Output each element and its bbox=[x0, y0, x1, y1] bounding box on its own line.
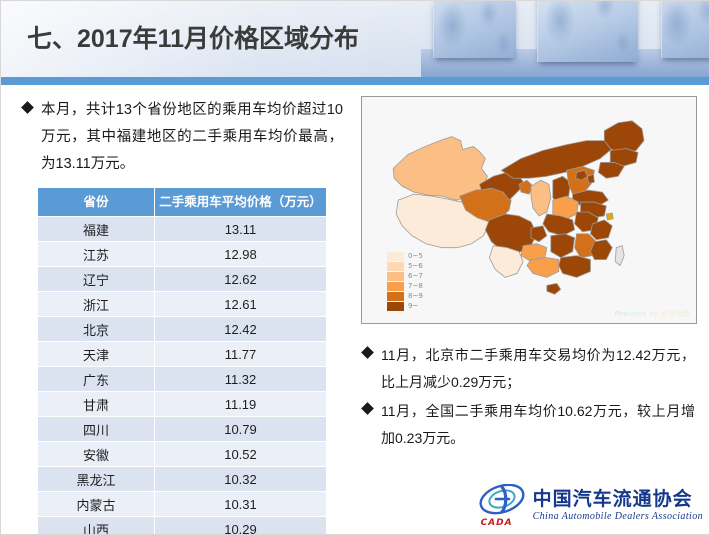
cell-price: 10.52 bbox=[155, 442, 327, 467]
decorative-cube-icon bbox=[661, 1, 710, 58]
cell-price: 12.62 bbox=[155, 267, 327, 292]
cell-price: 10.32 bbox=[155, 467, 327, 492]
cell-province: 广东 bbox=[38, 367, 155, 392]
legend-item: 7~8 bbox=[387, 281, 423, 291]
diamond-bullet-icon bbox=[21, 101, 34, 114]
cell-price: 10.79 bbox=[155, 417, 327, 442]
cell-province: 山西 bbox=[38, 517, 155, 535]
legend-label: 5~6 bbox=[408, 262, 423, 271]
cell-province: 浙江 bbox=[38, 292, 155, 317]
header-decoration-cubes bbox=[421, 1, 710, 77]
legend-swatch bbox=[387, 272, 404, 281]
table-row: 广东11.32 bbox=[38, 367, 327, 392]
legend-label: 9~ bbox=[408, 302, 418, 311]
cell-price: 12.42 bbox=[155, 317, 327, 342]
legend-label: 0~5 bbox=[408, 252, 423, 261]
table-row: 天津11.77 bbox=[38, 342, 327, 367]
cell-province: 北京 bbox=[38, 317, 155, 342]
column-header-province: 省份 bbox=[38, 188, 155, 217]
table-row: 福建13.11 bbox=[38, 217, 327, 242]
diamond-bullet-icon bbox=[361, 402, 374, 415]
legend-swatch bbox=[387, 262, 404, 271]
table-row: 江苏12.98 bbox=[38, 242, 327, 267]
table-row: 黑龙江10.32 bbox=[38, 467, 327, 492]
legend-item: 0~5 bbox=[387, 251, 423, 261]
cell-price: 10.31 bbox=[155, 492, 327, 517]
slide: 七、2017年11月价格区域分布 本月，共计13个省份地区的乘用车均价超过10万… bbox=[0, 0, 710, 535]
cell-province: 黑龙江 bbox=[38, 467, 155, 492]
cell-province: 安徽 bbox=[38, 442, 155, 467]
slide-header: 七、2017年11月价格区域分布 bbox=[1, 1, 710, 77]
cell-price: 12.98 bbox=[155, 242, 327, 267]
diamond-bullet-icon bbox=[361, 346, 374, 359]
table-row: 北京12.42 bbox=[38, 317, 327, 342]
table-header-row: 省份 二手乘用车平均价格（万元） bbox=[38, 188, 327, 217]
table-row: 甘肃11.19 bbox=[38, 392, 327, 417]
decorative-cube-icon bbox=[433, 1, 516, 58]
cada-logo-text: 中国汽车流通协会 China Automobile Dealers Associ… bbox=[533, 489, 703, 523]
decorative-cube-icon bbox=[537, 1, 638, 62]
page-title: 七、2017年11月价格区域分布 bbox=[27, 19, 359, 55]
note-bullet-text: 11月，全国二手乘用车均价10.62万元，较上月增加0.23万元。 bbox=[381, 398, 695, 452]
legend-label: 7~8 bbox=[408, 282, 423, 291]
cada-name-en: China Automobile Dealers Association bbox=[533, 511, 703, 523]
cell-price: 12.61 bbox=[155, 292, 327, 317]
left-summary-block: 本月，共计13个省份地区的乘用车均价超过10万元，其中福建地区的二手乘用车均价最… bbox=[23, 97, 343, 178]
cell-province: 福建 bbox=[38, 217, 155, 242]
table-row: 内蒙古10.31 bbox=[38, 492, 327, 517]
cell-price: 10.29 bbox=[155, 517, 327, 535]
cada-name-cn: 中国汽车流通协会 bbox=[533, 489, 703, 510]
column-header-price: 二手乘用车平均价格（万元） bbox=[155, 188, 327, 217]
table-body: 福建13.11江苏12.98辽宁12.62浙江12.61北京12.42天津11.… bbox=[38, 217, 327, 535]
legend-item: 6~7 bbox=[387, 271, 423, 281]
note-bullet: 11月，全国二手乘用车均价10.62万元，较上月增加0.23万元。 bbox=[363, 398, 695, 452]
cell-price: 13.11 bbox=[155, 217, 327, 242]
province-tianjin bbox=[587, 174, 594, 183]
cell-price: 11.19 bbox=[155, 392, 327, 417]
note-bullet: 11月，北京市二手乘用车交易均价为12.42万元，比上月减少0.29万元； bbox=[363, 342, 695, 396]
legend-swatch bbox=[387, 252, 404, 261]
summary-bullet: 本月，共计13个省份地区的乘用车均价超过10万元，其中福建地区的二手乘用车均价最… bbox=[23, 97, 343, 178]
cada-wordmark: CADA bbox=[481, 518, 513, 528]
cell-province: 甘肃 bbox=[38, 392, 155, 417]
table-row: 四川10.79 bbox=[38, 417, 327, 442]
province-price-table: 省份 二手乘用车平均价格（万元） 福建13.11江苏12.98辽宁12.62浙江… bbox=[37, 187, 327, 535]
cell-province: 江苏 bbox=[38, 242, 155, 267]
cell-province: 四川 bbox=[38, 417, 155, 442]
table-row: 山西10.29 bbox=[38, 517, 327, 535]
map-watermark: Powered by 百度地图 bbox=[615, 309, 690, 319]
note-bullet-text: 11月，北京市二手乘用车交易均价为12.42万元，比上月减少0.29万元； bbox=[381, 342, 695, 396]
legend-label: 8~9 bbox=[408, 292, 423, 301]
province-shanghai bbox=[606, 213, 613, 220]
table-row: 辽宁12.62 bbox=[38, 267, 327, 292]
header-accent-bar bbox=[1, 77, 710, 85]
cell-price: 11.32 bbox=[155, 367, 327, 392]
cada-swirl-icon bbox=[478, 484, 526, 518]
cada-logo-mark-icon: CADA bbox=[478, 484, 526, 528]
map-legend: 0~55~66~77~88~99~ bbox=[387, 251, 423, 311]
cada-logo: CADA 中国汽车流通协会 China Automobile Dealers A… bbox=[478, 484, 703, 528]
right-notes-block: 11月，北京市二手乘用车交易均价为12.42万元，比上月减少0.29万元；11月… bbox=[363, 342, 695, 454]
china-price-choropleth-map: 0~55~66~77~88~99~ Powered by 百度地图 bbox=[361, 96, 697, 324]
legend-item: 5~6 bbox=[387, 261, 423, 271]
legend-swatch bbox=[387, 282, 404, 291]
legend-swatch bbox=[387, 292, 404, 301]
summary-bullet-text: 本月，共计13个省份地区的乘用车均价超过10万元，其中福建地区的二手乘用车均价最… bbox=[41, 97, 343, 178]
cell-price: 11.77 bbox=[155, 342, 327, 367]
cell-province: 内蒙古 bbox=[38, 492, 155, 517]
legend-swatch bbox=[387, 302, 404, 311]
legend-item: 9~ bbox=[387, 301, 423, 311]
legend-label: 6~7 bbox=[408, 272, 423, 281]
cell-province: 辽宁 bbox=[38, 267, 155, 292]
cell-province: 天津 bbox=[38, 342, 155, 367]
legend-item: 8~9 bbox=[387, 291, 423, 301]
table-row: 安徽10.52 bbox=[38, 442, 327, 467]
table-row: 浙江12.61 bbox=[38, 292, 327, 317]
